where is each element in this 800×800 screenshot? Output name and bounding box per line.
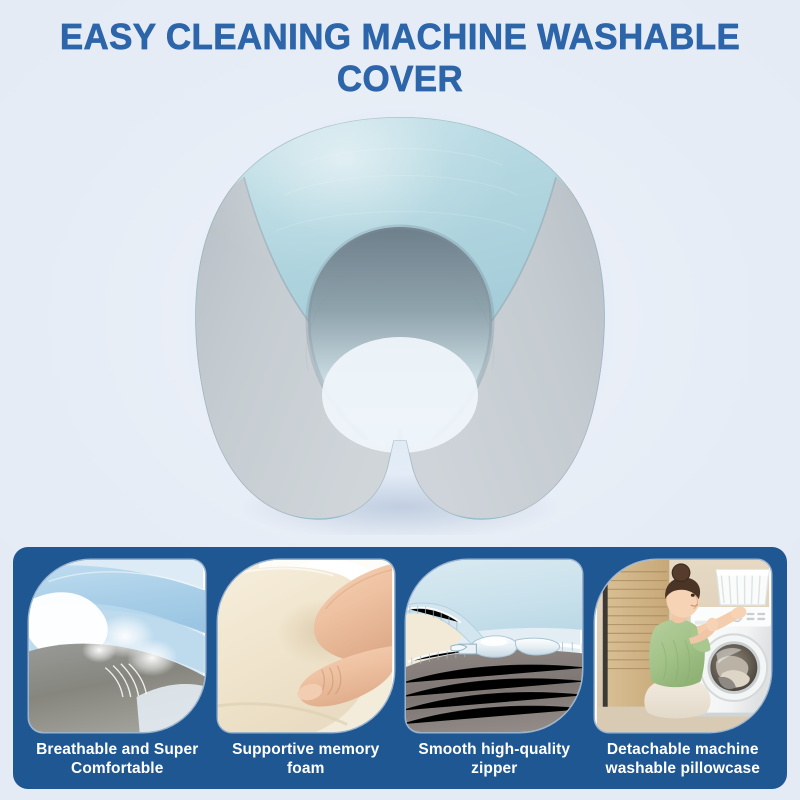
feature-caption: Breathable and Super Comfortable [27,741,207,779]
feature-caption: Detachable machine washable pillowcase [593,741,773,779]
zipper-photo [406,560,582,732]
feature-item-washable: Detachable machine washable pillowcase [589,560,778,779]
breathable-fabric-photo [29,560,205,732]
washing-machine-photo [595,560,771,732]
feature-caption: Smooth high-quality zipper [404,741,584,779]
feature-panel: Breathable and Super Comfortable [13,547,787,789]
feature-item-zipper: Smooth high-quality zipper [400,560,589,779]
product-infographic: EASY CLEANING MACHINE WASHABLE COVER [0,0,800,800]
page-title-line-1: EASY CLEANING MACHINE WASHABLE [12,16,788,58]
memory-foam-photo [218,560,394,732]
feature-item-breathable: Breathable and Super Comfortable [23,560,212,779]
feature-list: Breathable and Super Comfortable [13,547,787,789]
feature-caption: Supportive memory foam [216,741,396,779]
feature-item-memory-foam: Supportive memory foam [212,560,401,779]
page-title: EASY CLEANING MACHINE WASHABLE COVER [12,16,788,101]
hero-product-image [180,95,620,535]
